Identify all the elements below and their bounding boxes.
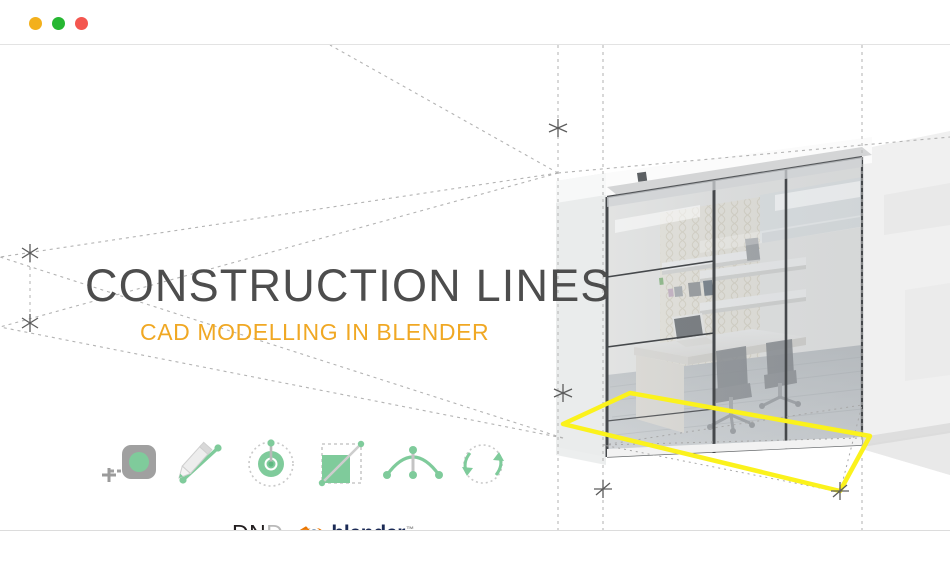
arc-bisect-icon[interactable] <box>378 437 448 493</box>
rotate-revolve-icon[interactable] <box>448 437 518 493</box>
footer-strip <box>0 531 950 580</box>
maximize-dot[interactable] <box>52 17 65 30</box>
tool-icon-row <box>98 437 518 493</box>
window-controls <box>29 17 88 30</box>
close-dot[interactable] <box>75 17 88 30</box>
circle-radius-icon[interactable] <box>238 437 308 493</box>
presentation-window: CONSTRUCTION LINES CAD MODELLING IN BLEN… <box>0 0 950 580</box>
draw-line-icon[interactable] <box>168 437 238 493</box>
minimize-dot[interactable] <box>29 17 42 30</box>
window-titlebar <box>0 0 950 45</box>
title-block: CONSTRUCTION LINES CAD MODELLING IN BLEN… <box>85 263 555 344</box>
scale-rectangle-icon[interactable] <box>308 437 378 493</box>
selected-face-outline[interactable] <box>563 393 870 491</box>
snap-to-point-icon[interactable] <box>98 437 168 493</box>
slide-canvas: CONSTRUCTION LINES CAD MODELLING IN BLEN… <box>0 45 950 531</box>
slide-title: CONSTRUCTION LINES <box>85 263 555 308</box>
slide-subtitle: CAD MODELLING IN BLENDER <box>140 321 555 344</box>
